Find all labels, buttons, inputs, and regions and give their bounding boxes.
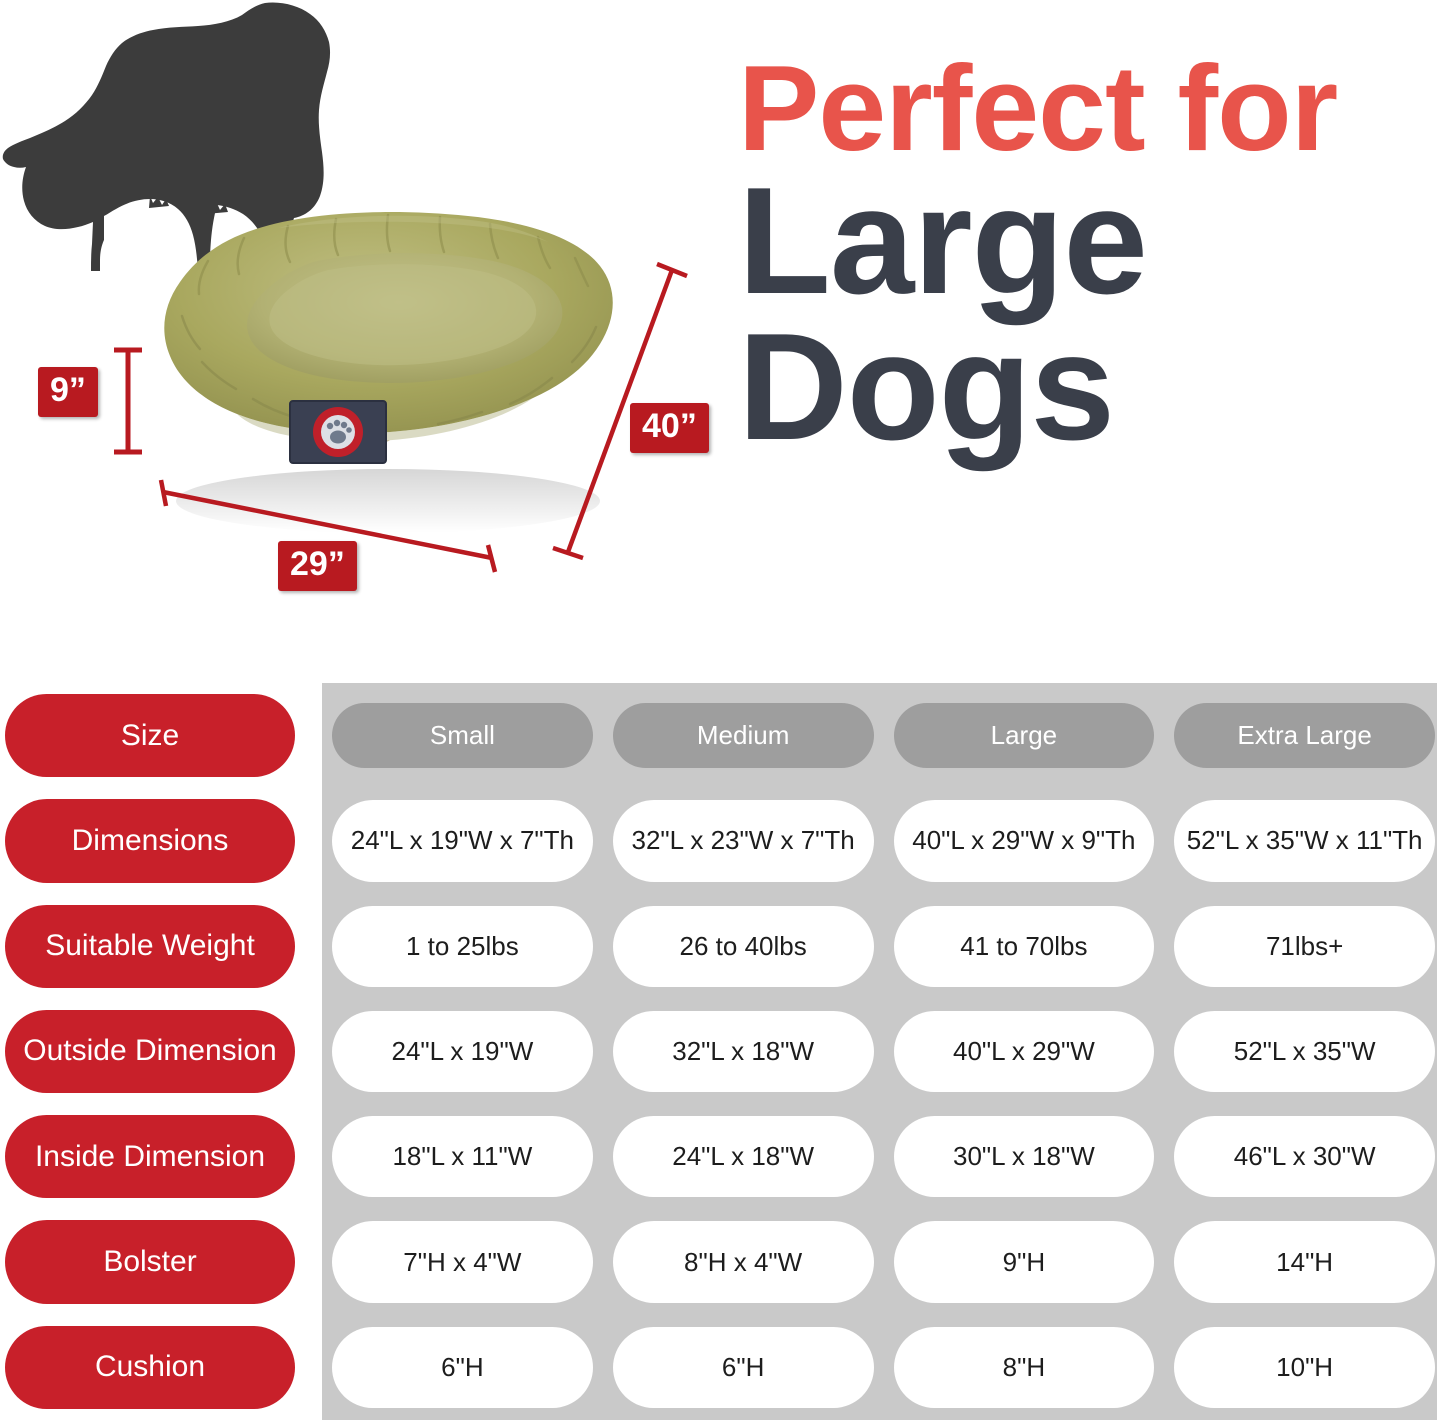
row-label-text: Outside Dimension	[5, 1010, 295, 1093]
cell-text: 32"L x 23"W x 7"Th	[613, 800, 874, 881]
table-cell: 26 to 40lbs	[603, 894, 884, 999]
column-header-extra-large: Extra Large	[1164, 683, 1445, 788]
cell-text: 6"H	[613, 1327, 874, 1408]
hero-section: 9” 29” 40” Perfect for Large Dogs	[0, 0, 1445, 683]
cell-text: 40"L x 29"W x 9"Th	[894, 800, 1155, 881]
cell-text: 14"H	[1174, 1221, 1435, 1302]
column-header-text: Small	[332, 703, 593, 768]
table-cell: 32"L x 18"W	[603, 999, 884, 1104]
row-label-suitable-weight: Suitable Weight	[0, 894, 300, 999]
table-cell: 1 to 25lbs	[322, 894, 603, 999]
spec-table-grid: Size Small Medium Large Extra Large Dime…	[0, 683, 1445, 1420]
table-cell: 41 to 70lbs	[884, 894, 1165, 999]
measurement-badge-width: 29”	[278, 541, 357, 591]
product-infographic: 9” 29” 40” Perfect for Large Dogs Size S…	[0, 0, 1445, 1420]
cell-text: 7"H x 4"W	[332, 1221, 593, 1302]
cell-text: 40"L x 29"W	[894, 1011, 1155, 1092]
table-cell: 24"L x 19"W x 7"Th	[322, 788, 603, 893]
grid-gutter	[300, 788, 322, 893]
table-cell: 52"L x 35"W x 11"Th	[1164, 788, 1445, 893]
table-cell: 52"L x 35"W	[1164, 999, 1445, 1104]
table-cell: 40"L x 29"W x 9"Th	[884, 788, 1165, 893]
measurement-badge-length: 40”	[630, 403, 709, 453]
headline-line-3: Dogs	[738, 317, 1438, 458]
cell-text: 1 to 25lbs	[332, 906, 593, 987]
grid-gutter	[300, 1315, 322, 1420]
cell-text: 8"H	[894, 1327, 1155, 1408]
column-header-text: Medium	[613, 703, 874, 768]
table-cell: 40"L x 29"W	[884, 999, 1165, 1104]
cell-text: 24"L x 19"W x 7"Th	[332, 800, 593, 881]
grid-gutter	[300, 999, 322, 1104]
headline-line-2: Large	[738, 171, 1438, 312]
headline: Perfect for Large Dogs	[738, 52, 1438, 458]
cell-text: 24"L x 19"W	[332, 1011, 593, 1092]
cell-text: 30"L x 18"W	[894, 1116, 1155, 1197]
table-cell: 71lbs+	[1164, 894, 1445, 999]
cell-text: 52"L x 35"W x 11"Th	[1174, 800, 1435, 881]
table-cell: 7"H x 4"W	[322, 1209, 603, 1314]
column-header-text: Extra Large	[1174, 703, 1435, 768]
column-header-large: Large	[884, 683, 1165, 788]
row-label-dimensions: Dimensions	[0, 788, 300, 893]
table-cell: 10"H	[1164, 1315, 1445, 1420]
specification-table: Size Small Medium Large Extra Large Dime…	[0, 683, 1445, 1420]
column-header-small: Small	[322, 683, 603, 788]
cell-text: 10"H	[1174, 1327, 1435, 1408]
cell-text: 71lbs+	[1174, 906, 1435, 987]
cell-text: 52"L x 35"W	[1174, 1011, 1435, 1092]
grid-gutter	[300, 683, 322, 788]
cell-text: 8"H x 4"W	[613, 1221, 874, 1302]
row-label-text: Cushion	[5, 1326, 295, 1409]
row-label-bolster: Bolster	[0, 1209, 300, 1314]
table-cell: 14"H	[1164, 1209, 1445, 1314]
column-header-text: Large	[894, 703, 1155, 768]
row-label-outside-dimension: Outside Dimension	[0, 999, 300, 1104]
table-cell: 9"H	[884, 1209, 1165, 1314]
measurement-badge-height: 9”	[38, 367, 98, 417]
cell-text: 46"L x 30"W	[1174, 1116, 1435, 1197]
cell-text: 6"H	[332, 1327, 593, 1408]
row-label-text: Dimensions	[5, 799, 295, 882]
cell-text: 41 to 70lbs	[894, 906, 1155, 987]
cell-text: 26 to 40lbs	[613, 906, 874, 987]
grid-gutter	[300, 894, 322, 999]
cell-text: 24"L x 18"W	[613, 1116, 874, 1197]
majestic-pet-tag	[290, 401, 386, 463]
column-header-medium: Medium	[603, 683, 884, 788]
row-label-text: Bolster	[5, 1220, 295, 1303]
table-cell: 46"L x 30"W	[1164, 1104, 1445, 1209]
table-cell: 8"H x 4"W	[603, 1209, 884, 1314]
table-cell: 24"L x 18"W	[603, 1104, 884, 1209]
cell-text: 18"L x 11"W	[332, 1116, 593, 1197]
cell-text: 32"L x 18"W	[613, 1011, 874, 1092]
grid-gutter	[300, 1104, 322, 1209]
row-label-inside-dimension: Inside Dimension	[0, 1104, 300, 1209]
table-cell: 32"L x 23"W x 7"Th	[603, 788, 884, 893]
table-cell: 30"L x 18"W	[884, 1104, 1165, 1209]
headline-line-1: Perfect for	[738, 52, 1438, 165]
row-label-text: Inside Dimension	[5, 1115, 295, 1198]
table-cell: 24"L x 19"W	[322, 999, 603, 1104]
grid-gutter	[300, 1209, 322, 1314]
table-cell: 6"H	[322, 1315, 603, 1420]
table-cell: 6"H	[603, 1315, 884, 1420]
dog-bed-illustration	[138, 196, 628, 546]
table-cell: 8"H	[884, 1315, 1165, 1420]
row-label-size: Size	[0, 683, 300, 788]
table-cell: 18"L x 11"W	[322, 1104, 603, 1209]
row-label-text: Size	[5, 694, 295, 777]
cell-text: 9"H	[894, 1221, 1155, 1302]
row-label-cushion: Cushion	[0, 1315, 300, 1420]
row-label-text: Suitable Weight	[5, 905, 295, 988]
